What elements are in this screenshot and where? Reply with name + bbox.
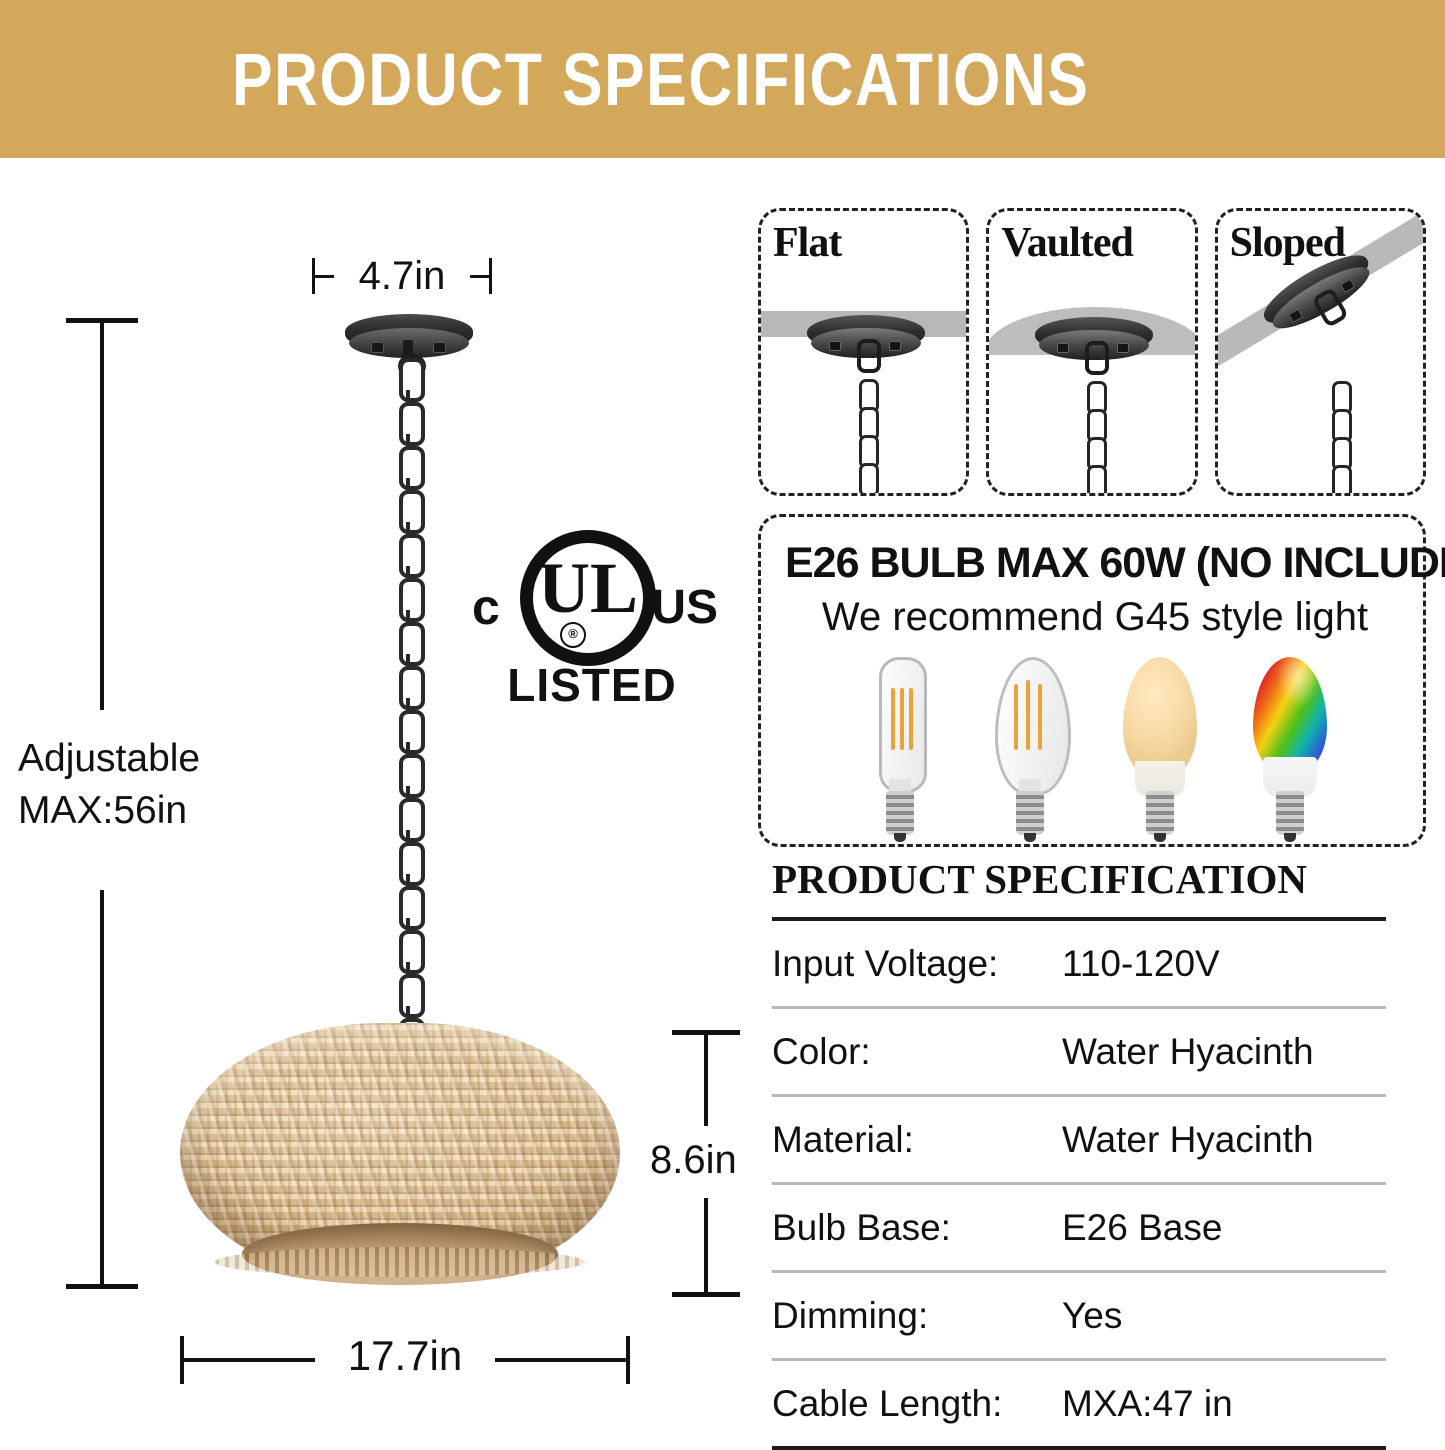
bulb-glass — [995, 657, 1071, 795]
shade-bottom-lip — [215, 1247, 585, 1277]
spec-row: Bulb Base:E26 Base — [772, 1185, 1386, 1273]
spec-row-value: 110-120V — [1062, 943, 1220, 985]
chain-link — [399, 358, 425, 402]
spec-row-value: MXA:47 in — [1062, 1383, 1233, 1425]
bulb-illustration-row — [761, 657, 1429, 837]
chain-icon — [857, 379, 877, 493]
dimension-line-upper — [100, 318, 104, 710]
spec-row: Color:Water Hyacinth — [772, 1009, 1386, 1097]
ceiling-type-label: Flat — [773, 219, 841, 267]
filament — [891, 688, 895, 750]
filament — [1014, 684, 1018, 750]
canopy-screw-left — [829, 341, 841, 351]
ceiling-type-vaulted: Vaulted — [986, 208, 1197, 496]
chain-link — [399, 402, 425, 446]
dimension-line-upper — [704, 1030, 708, 1126]
filament — [1038, 684, 1042, 750]
dimension-shade-height: 8.6in — [660, 1030, 780, 1300]
ceiling-type-row: Flat Vaulted — [758, 208, 1426, 496]
spec-row-label: Cable Length: — [772, 1383, 1062, 1425]
ul-mark-listed: LISTED — [492, 658, 692, 712]
chain-link — [399, 798, 425, 842]
bulb-heading: E26 BULB MAX 60W (NO INCLUDED) — [785, 539, 1405, 588]
canopy-hook — [857, 339, 881, 373]
dimension-canopy-width: 4.7in — [312, 258, 492, 304]
tubular-filament-bulb-icon — [857, 657, 943, 835]
spec-table: PRODUCT SPECIFICATION Input Voltage:110-… — [772, 855, 1386, 1450]
dimension-label-canopy-width: 4.7in — [312, 254, 492, 299]
chain-link — [399, 622, 425, 666]
spec-table-bottom-rule — [772, 1446, 1386, 1450]
bulb-base-e26 — [1276, 791, 1304, 835]
canopy-screw-left — [371, 342, 384, 353]
spec-row-label: Dimming: — [772, 1295, 1062, 1337]
spec-row: Input Voltage:110-120V — [772, 921, 1386, 1009]
spec-row-value: Water Hyacinth — [1062, 1119, 1314, 1161]
right-column: Flat Vaulted — [758, 208, 1426, 847]
ul-mark-c: c — [472, 578, 500, 636]
rgb-color-changing-bulb-icon — [1247, 657, 1333, 835]
adjustable-line-1: Adjustable — [18, 733, 200, 785]
chain-link — [399, 842, 425, 886]
page-title: PRODUCT SPECIFICATIONS — [232, 37, 1090, 122]
chain-link — [399, 974, 425, 1018]
chain-link — [399, 710, 425, 754]
dimension-line-lower — [704, 1198, 708, 1294]
adjustable-line-2: MAX:56in — [18, 785, 200, 837]
chain-link — [399, 578, 425, 622]
ceiling-type-sloped: Sloped — [1215, 208, 1426, 496]
ul-mark-ul: UL — [520, 552, 656, 624]
spec-row: Dimming:Yes — [772, 1273, 1386, 1361]
spec-row-value: Water Hyacinth — [1062, 1031, 1314, 1073]
canopy-screw-left — [1057, 343, 1069, 353]
chain-link — [399, 534, 425, 578]
spec-row: Material:Water Hyacinth — [772, 1097, 1386, 1185]
dimension-label-shade-width: 17.7in — [180, 1332, 630, 1380]
dimension-label-adjustable: Adjustable MAX:56in — [18, 733, 200, 837]
canopy-screw-right — [889, 341, 901, 351]
filament — [1026, 680, 1030, 750]
spec-row-label: Material: — [772, 1119, 1062, 1161]
spec-row: Cable Length:MXA:47 in — [772, 1361, 1386, 1446]
chain-link — [399, 666, 425, 710]
warm-white-frosted-bulb-icon — [1117, 657, 1203, 835]
dimension-cap-bottom — [672, 1292, 740, 1297]
bulb-glass — [879, 657, 927, 793]
dimension-cap-bottom — [66, 1284, 138, 1289]
spec-row-value: Yes — [1062, 1295, 1122, 1337]
ceiling-type-flat: Flat — [758, 208, 969, 496]
chain-link — [399, 490, 425, 534]
bulb-glass — [1123, 657, 1197, 777]
filament — [900, 688, 904, 750]
ceiling-type-label: Sloped — [1230, 219, 1345, 267]
canopy-screw-right — [433, 342, 446, 353]
chain-link — [399, 446, 425, 490]
ceiling-type-label: Vaulted — [1001, 219, 1133, 267]
dimension-line-lower — [100, 890, 104, 1288]
bulb-glass-rgb — [1253, 657, 1327, 773]
spec-row-label: Bulb Base: — [772, 1207, 1062, 1249]
spec-row-label: Color: — [772, 1031, 1062, 1073]
dimension-shade-width: 17.7in — [180, 1336, 630, 1396]
spec-row-value: E26 Base — [1062, 1207, 1222, 1249]
spec-row-label: Input Voltage: — [772, 943, 1062, 985]
dimension-label-shade-height: 8.6in — [650, 1138, 737, 1183]
woven-lamp-shade — [180, 1023, 620, 1283]
chain-link — [399, 754, 425, 798]
canopy-hook — [1085, 341, 1109, 375]
filament — [909, 688, 913, 750]
product-diagram: 4.7in c UL ® US LISTED Adjustable MAX:56… — [0, 158, 750, 1419]
bulb-info-panel: E26 BULB MAX 60W (NO INCLUDED) We recomm… — [758, 514, 1426, 847]
canopy-screw-right — [1117, 343, 1129, 353]
ul-listed-mark: c UL ® US LISTED — [468, 530, 718, 700]
chain-link — [399, 886, 425, 930]
bulb-base-e26 — [1016, 791, 1044, 835]
a-shape-filament-bulb-icon — [987, 657, 1073, 835]
bulb-base-e26 — [1146, 791, 1174, 835]
chain-icon — [1085, 381, 1105, 493]
ul-registered-icon: ® — [560, 622, 586, 648]
chain-link — [399, 930, 425, 974]
ceiling-canopy — [345, 314, 473, 360]
ul-mark-us: US — [651, 580, 718, 635]
chain-icon — [1330, 381, 1350, 493]
spec-table-title: PRODUCT SPECIFICATION — [772, 855, 1386, 903]
header-banner: PRODUCT SPECIFICATIONS — [0, 0, 1445, 158]
bulb-subheading: We recommend G45 style light — [761, 595, 1429, 640]
bulb-base-e26 — [886, 791, 914, 835]
